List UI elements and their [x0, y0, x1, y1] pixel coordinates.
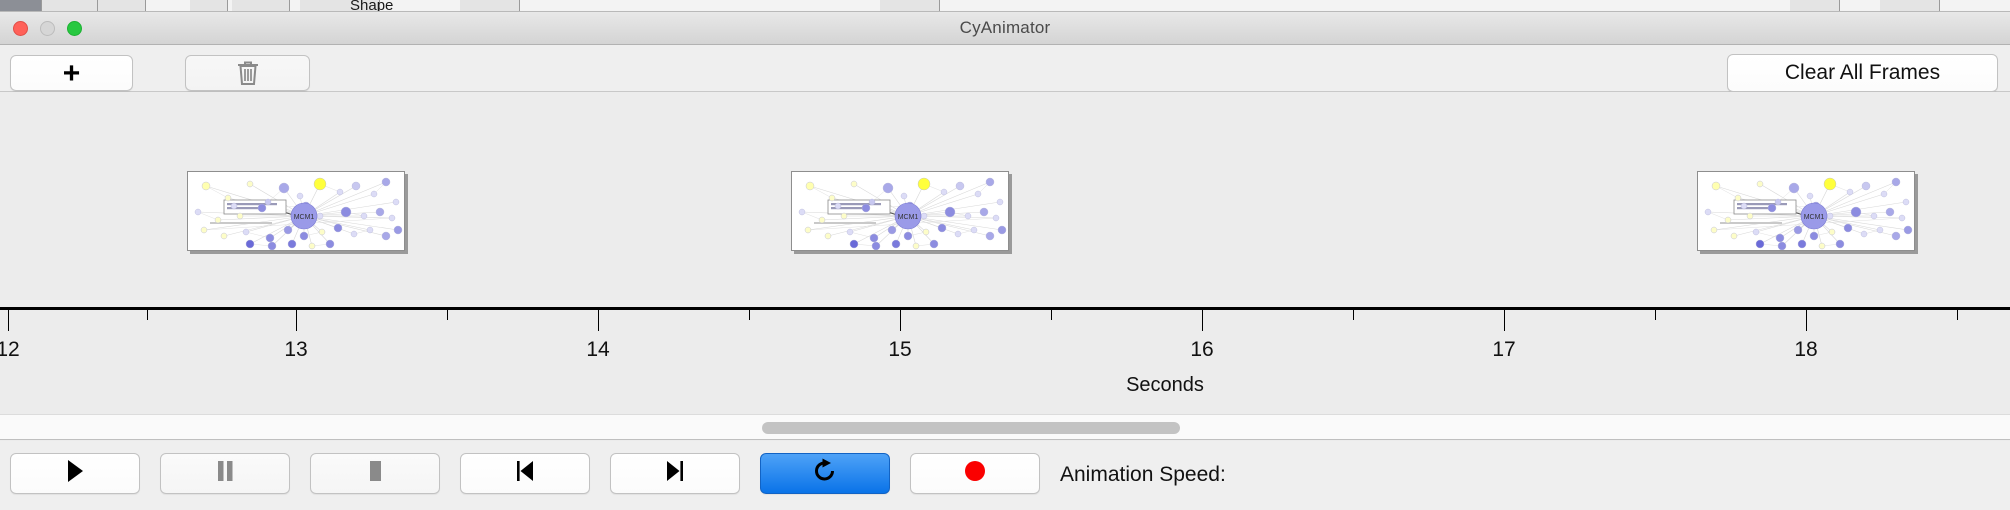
timeline-tick-label: 14	[586, 338, 609, 362]
horizontal-scrollbar-thumb[interactable]	[762, 422, 1180, 434]
axis-title-seconds: Seconds	[1126, 374, 1204, 397]
trash-icon	[235, 59, 261, 87]
bg-segment	[232, 0, 290, 12]
minimize-button[interactable]	[40, 21, 55, 36]
bg-segment	[190, 0, 228, 12]
timeline-tick-minor	[1051, 310, 1052, 320]
timeline-tick-major	[1504, 310, 1505, 331]
timeline-tick-label: 15	[888, 338, 911, 362]
timeline-tick-major	[598, 310, 599, 331]
bg-segment	[42, 0, 98, 12]
bg-segment	[460, 0, 520, 12]
timeline-tick-minor	[447, 310, 448, 320]
stop-icon	[364, 458, 386, 489]
timeline-tick-minor	[749, 310, 750, 320]
last-frame-button[interactable]	[610, 453, 740, 494]
pause-icon	[214, 458, 236, 489]
bg-segment	[1880, 0, 1940, 12]
plus-icon: +	[63, 63, 81, 84]
timeline-tick-major	[1202, 310, 1203, 331]
cyanimator-window: Shape CyAnimator + Clear All	[0, 0, 2010, 510]
svg-text:MCM1: MCM1	[898, 214, 919, 221]
clear-all-frames-button[interactable]: Clear All Frames	[1727, 54, 1998, 92]
bg-segment	[0, 0, 42, 12]
frame-thumbnail[interactable]: MCM1	[791, 171, 1009, 251]
svg-text:MCM1: MCM1	[294, 214, 315, 221]
frame-thumbnail[interactable]: MCM1	[187, 171, 405, 251]
frames-track[interactable]: MCM1MCM1MCM1	[0, 92, 2010, 307]
skip-forward-icon	[662, 458, 688, 489]
bg-segment	[98, 0, 146, 12]
window-controls	[13, 21, 82, 36]
first-frame-button[interactable]	[460, 453, 590, 494]
loop-icon	[812, 457, 838, 490]
timeline-tick-major	[8, 310, 9, 331]
window-title: CyAnimator	[0, 18, 2010, 38]
timeline-tick-label: 12	[0, 338, 20, 362]
delete-frame-button[interactable]	[185, 55, 310, 91]
play-icon	[64, 458, 86, 489]
timeline-tick-major	[296, 310, 297, 331]
stop-button[interactable]	[310, 453, 440, 494]
timeline-panel[interactable]: MCM1MCM1MCM1 12131415161718 Seconds	[0, 92, 2010, 410]
timeline-tick-minor	[147, 310, 148, 320]
frame-toolbar: + Clear All Frames	[0, 45, 2010, 92]
playback-control-bar: Animation Speed:	[0, 441, 2010, 510]
timeline-tick-label: 17	[1492, 338, 1515, 362]
play-button[interactable]	[10, 453, 140, 494]
timeline-tick-minor	[1957, 310, 1958, 320]
animation-speed-label: Animation Speed:	[1060, 463, 1226, 487]
timeline-tick-label: 18	[1794, 338, 1817, 362]
record-button[interactable]	[910, 453, 1040, 494]
timeline-tick-label: 16	[1190, 338, 1213, 362]
close-button[interactable]	[13, 21, 28, 36]
record-icon	[963, 459, 987, 488]
background-app-strip: Shape	[0, 0, 2010, 12]
frame-thumbnail[interactable]: MCM1	[1697, 171, 1915, 251]
window-title-bar: CyAnimator	[0, 12, 2010, 45]
clear-all-frames-label: Clear All Frames	[1785, 61, 1940, 85]
timeline-tick-label: 13	[284, 338, 307, 362]
add-frame-button[interactable]: +	[10, 55, 133, 91]
timeline-axis-line	[0, 307, 2010, 310]
timeline-tick-minor	[1353, 310, 1354, 320]
background-app-label: Shape	[350, 0, 393, 12]
horizontal-scrollbar[interactable]	[0, 414, 2010, 440]
timeline-tick-major	[900, 310, 901, 331]
maximize-button[interactable]	[67, 21, 82, 36]
loop-button[interactable]	[760, 453, 890, 494]
timeline-tick-major	[1806, 310, 1807, 331]
bg-segment	[1790, 0, 1840, 12]
skip-back-icon	[512, 458, 538, 489]
bg-segment	[880, 0, 940, 12]
timeline-tick-minor	[1655, 310, 1656, 320]
svg-text:MCM1: MCM1	[1804, 214, 1825, 221]
pause-button[interactable]	[160, 453, 290, 494]
